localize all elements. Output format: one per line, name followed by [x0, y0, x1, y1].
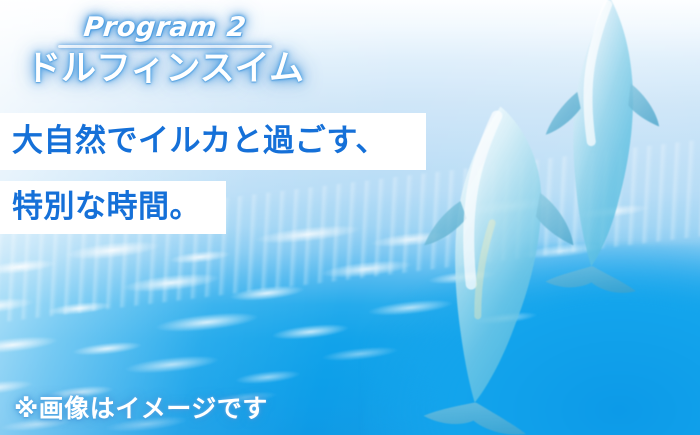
heading-divider [58, 45, 272, 48]
page-title: ドルフィンスイム [0, 51, 330, 88]
dolphin-front-body [426, 102, 560, 408]
caption-line-1: 大自然でイルカと過ごす、 [0, 113, 426, 170]
dolphin-swim-banner: Program 2 ドルフィンスイム 大自然でイルカと過ごす、 特別な時間。 ※… [0, 0, 700, 435]
caption-line-2: 特別な時間。 [0, 181, 226, 234]
heading-block: Program 2 ドルフィンスイム [0, 0, 330, 88]
program-label: Program 2 [0, 14, 331, 41]
image-disclaimer-note: ※画像はイメージです [14, 396, 268, 421]
dolphin-front-dorsal-fin [532, 193, 581, 246]
